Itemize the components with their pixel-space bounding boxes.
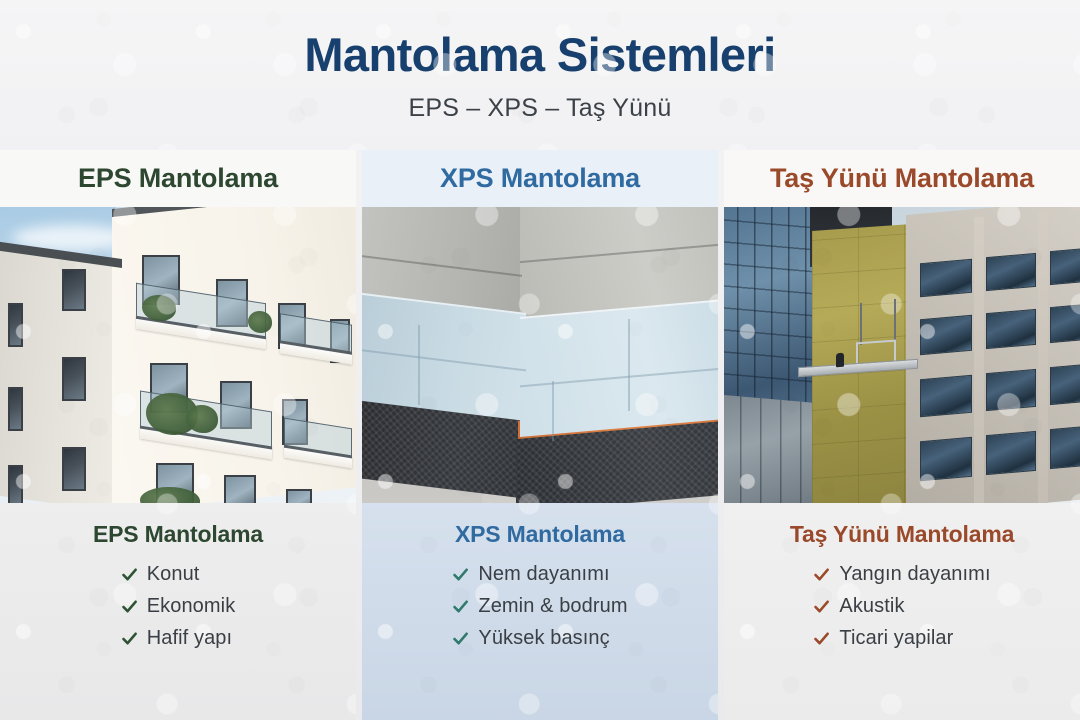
list-item-label: Akustik — [839, 596, 904, 616]
column-header-eps: EPS Mantolama — [0, 150, 356, 207]
page-title: Mantolama Sistemleri — [304, 31, 775, 78]
column-header-xps: XPS Mantolama — [362, 150, 718, 207]
list-item-label: Hafif yapı — [147, 628, 232, 648]
check-icon — [452, 598, 469, 615]
column-body-eps: EPS Mantolama Konut Ekonomik — [0, 503, 356, 720]
worker-figure — [836, 353, 844, 368]
check-icon — [452, 630, 469, 647]
list-item: Zemin & bodrum — [452, 590, 627, 622]
check-icon — [813, 566, 830, 583]
body-title-rock-wool: Taş Yünü Mantolama — [790, 521, 1014, 548]
photo-xps-foundation-corner — [362, 207, 718, 503]
list-item: Konut — [121, 558, 236, 590]
list-item: Nem dayanımı — [452, 558, 627, 590]
column-body-rock-wool: Taş Yünü Mantolama Yangın dayanımı Akust… — [724, 503, 1080, 720]
list-item: Ticari yapilar — [813, 622, 990, 654]
list-item: Yüksek basınç — [452, 622, 627, 654]
check-icon — [813, 630, 830, 647]
list-item-label: Konut — [147, 564, 200, 584]
feature-list-xps: Nem dayanımı Zemin & bodrum Yüksek basın… — [452, 558, 627, 654]
list-item-label: Ticari yapilar — [839, 628, 953, 648]
check-icon — [121, 598, 138, 615]
list-item-label: Nem dayanımı — [478, 564, 609, 584]
check-icon — [121, 566, 138, 583]
column-xps[interactable]: XPS Mantolama — [362, 150, 718, 720]
list-item-label: Yangın dayanımı — [839, 564, 990, 584]
infographic-page: Mantolama Sistemleri EPS – XPS – Taş Yün… — [0, 0, 1080, 720]
check-icon — [813, 598, 830, 615]
page-header: Mantolama Sistemleri EPS – XPS – Taş Yün… — [0, 0, 1080, 150]
photo-rock-wool-commercial-facade — [724, 207, 1080, 503]
column-rock-wool[interactable]: Taş Yünü Mantolama — [724, 150, 1080, 720]
body-title-eps: EPS Mantolama — [93, 521, 263, 548]
list-item: Akustik — [813, 590, 990, 622]
body-title-xps: XPS Mantolama — [455, 521, 625, 548]
page-subtitle: EPS – XPS – Taş Yünü — [409, 94, 672, 123]
feature-list-rock-wool: Yangın dayanımı Akustik Ticari yapilar — [813, 558, 990, 654]
column-header-rock-wool: Taş Yünü Mantolama — [724, 150, 1080, 207]
check-icon — [121, 630, 138, 647]
column-body-xps: XPS Mantolama Nem dayanımı Zemin & bodru… — [362, 503, 718, 720]
list-item-label: Ekonomik — [147, 596, 236, 616]
list-item: Yangın dayanımı — [813, 558, 990, 590]
list-item-label: Zemin & bodrum — [478, 596, 627, 616]
photo-eps-residential-building — [0, 207, 356, 503]
column-eps[interactable]: EPS Mantolama — [0, 150, 356, 720]
comparison-columns: EPS Mantolama — [0, 150, 1080, 720]
list-item: Ekonomik — [121, 590, 236, 622]
list-item: Hafif yapı — [121, 622, 236, 654]
check-icon — [452, 566, 469, 583]
list-item-label: Yüksek basınç — [478, 628, 609, 648]
feature-list-eps: Konut Ekonomik Hafif yapı — [121, 558, 236, 654]
